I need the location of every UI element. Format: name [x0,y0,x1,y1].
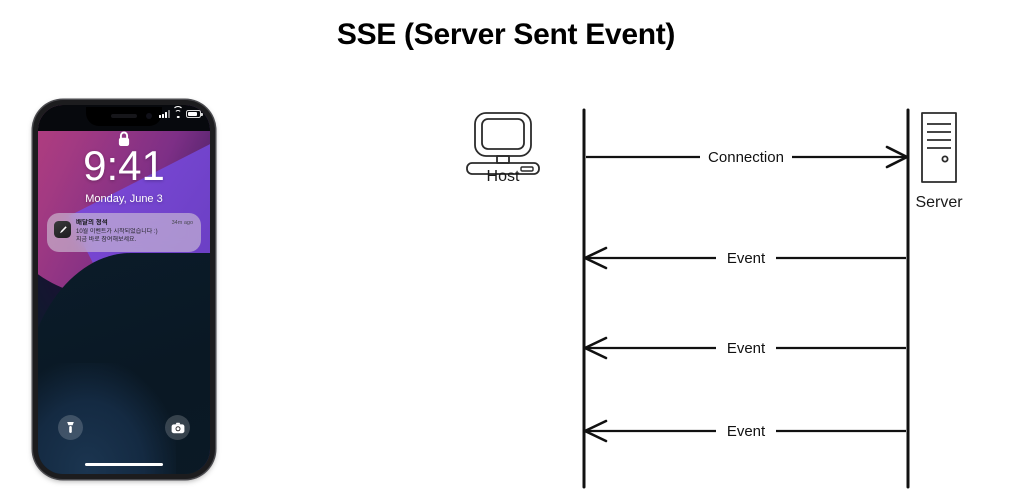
lockscreen-date: Monday, June 3 [38,193,210,205]
message-event-2: Event [585,338,906,358]
camera-icon [171,422,185,434]
cellular-signal-icon [159,110,170,118]
message-label-event-1: Event [727,250,766,267]
status-bar [159,110,201,118]
notification-card[interactable]: 배달의 정석 10월 이벤트가 시작되었습니다 :) 지금 바로 참여해보세요.… [47,213,201,252]
delivery-app-icon [54,221,71,238]
server-label: Server [915,194,963,211]
phone-mockup: 9:41 Monday, June 3 배달의 정석 10월 이벤트가 시작되었… [33,100,215,479]
server-tower-icon [922,113,956,182]
message-event-3: Event [585,421,906,441]
message-label-event-2: Event [727,340,766,357]
camera-button[interactable] [165,415,190,440]
battery-icon [186,110,201,118]
flashlight-icon [65,421,76,434]
notification-timestamp: 34m ago [172,220,193,226]
message-connection: Connection [586,147,907,167]
wifi-icon [173,110,183,118]
desktop-computer-icon [467,113,539,174]
message-label-event-3: Event [727,423,766,440]
host-label: Host [487,168,520,185]
notification-line-1: 10월 이벤트가 시작되었습니다 :) [76,228,194,236]
message-label-connection: Connection [708,149,784,166]
page-title: SSE (Server Sent Event) [0,18,1012,52]
phone-notch [86,107,162,126]
home-indicator[interactable] [85,463,163,467]
flashlight-button[interactable] [58,415,83,440]
notification-line-2: 지금 바로 참여해보세요. [76,236,194,244]
phone-screen: 9:41 Monday, June 3 배달의 정석 10월 이벤트가 시작되었… [38,105,210,474]
message-event-1: Event [585,248,906,268]
wallpaper-blue-glow [38,363,176,474]
sequence-diagram: Host Server Connection Event [455,95,1012,494]
front-camera-icon [146,113,152,119]
lockscreen-clock: 9:41 [38,145,210,187]
earpiece-speaker [111,114,137,118]
